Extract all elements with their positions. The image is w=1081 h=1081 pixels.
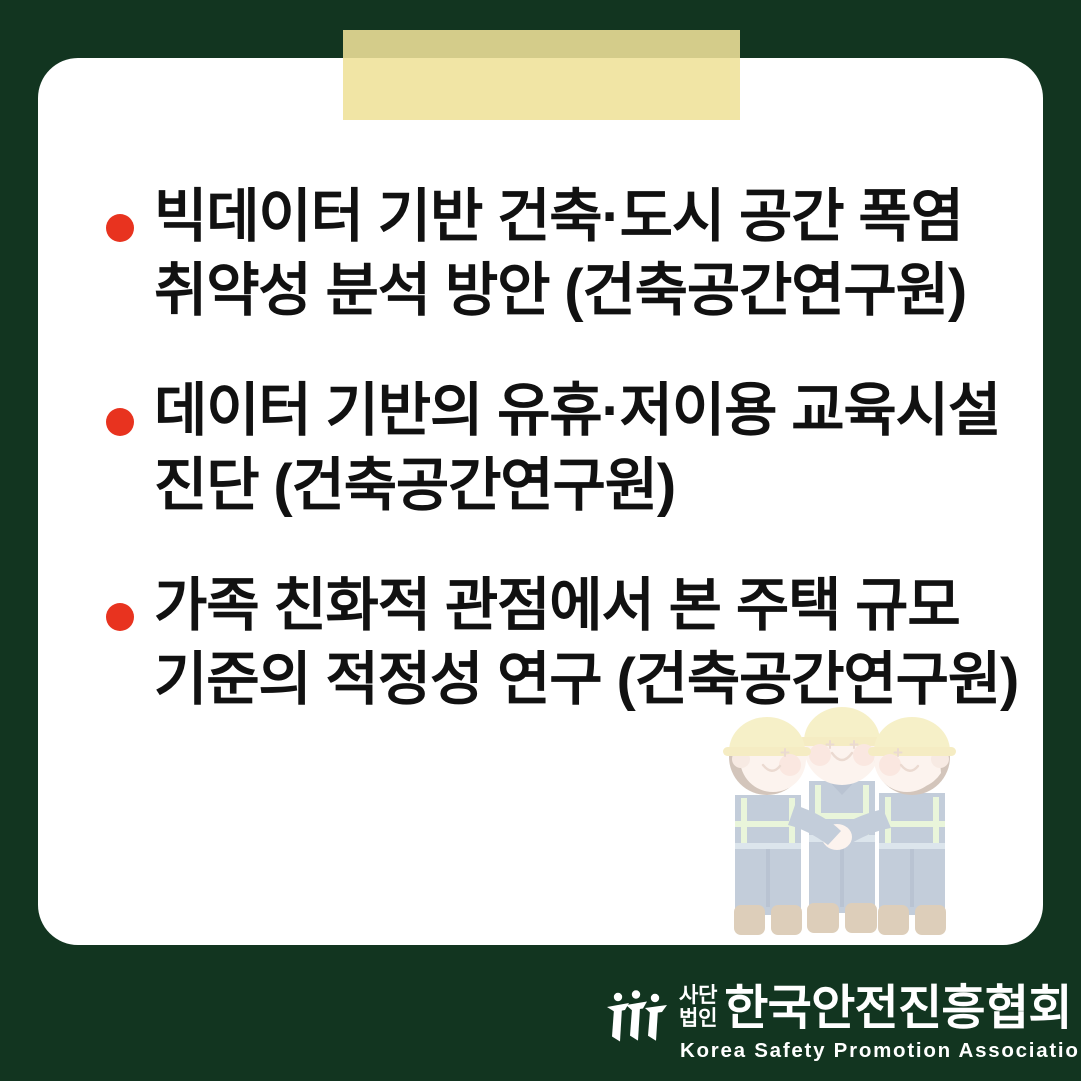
three-people-logo-mark-icon xyxy=(603,989,671,1049)
logo-prefix: 사단 법인 xyxy=(679,985,717,1033)
footer-logo: 사단 법인 한국안전진흥협회 Korea Safety Promotion As… xyxy=(603,985,1073,1075)
list-item[interactable]: 데이터 기반의 유휴·저이용 교육시설 진단 (건축공간연구원) xyxy=(96,374,1023,522)
logo-prefix-line-2: 법인 xyxy=(679,1008,717,1031)
logo-korean-name: 한국안전진흥협회 xyxy=(724,985,1072,1033)
list-item-label: 가족 친화적 관점에서 본 주택 규모 기준의 적정성 연구 (건축공간연구원) xyxy=(154,569,1023,717)
list-item-label: 빅데이터 기반 건축·도시 공간 폭염 취약성 분석 방안 (건축공간연구원) xyxy=(154,180,1023,328)
list-item[interactable]: 빅데이터 기반 건축·도시 공간 폭염 취약성 분석 방안 (건축공간연구원) xyxy=(96,180,1023,328)
list-item[interactable]: 가족 친화적 관점에서 본 주택 규모 기준의 적정성 연구 (건축공간연구원) xyxy=(96,569,1023,717)
content-card: 빅데이터 기반 건축·도시 공간 폭염 취약성 분석 방안 (건축공간연구원) … xyxy=(38,58,1043,945)
bullet-dot-icon xyxy=(106,603,134,631)
bullet-dot-icon xyxy=(106,214,134,242)
construction-workers-illustration xyxy=(697,685,987,945)
masking-tape-decoration xyxy=(343,30,740,120)
logo-main-row: 사단 법인 한국안전진흥협회 xyxy=(679,985,1081,1033)
bullet-list: 빅데이터 기반 건축·도시 공간 폭염 취약성 분석 방안 (건축공간연구원) … xyxy=(96,180,1023,717)
poster-root: 빅데이터 기반 건축·도시 공간 폭염 취약성 분석 방안 (건축공간연구원) … xyxy=(0,0,1081,1081)
logo-prefix-line-1: 사단 xyxy=(679,985,717,1008)
list-item-label: 데이터 기반의 유휴·저이용 교육시설 진단 (건축공간연구원) xyxy=(154,374,1023,522)
logo-text-block: 사단 법인 한국안전진흥협회 Korea Safety Promotion As… xyxy=(679,985,1081,1063)
logo-english-name: Korea Safety Promotion Association xyxy=(680,1039,1081,1063)
bullet-dot-icon xyxy=(106,408,134,436)
